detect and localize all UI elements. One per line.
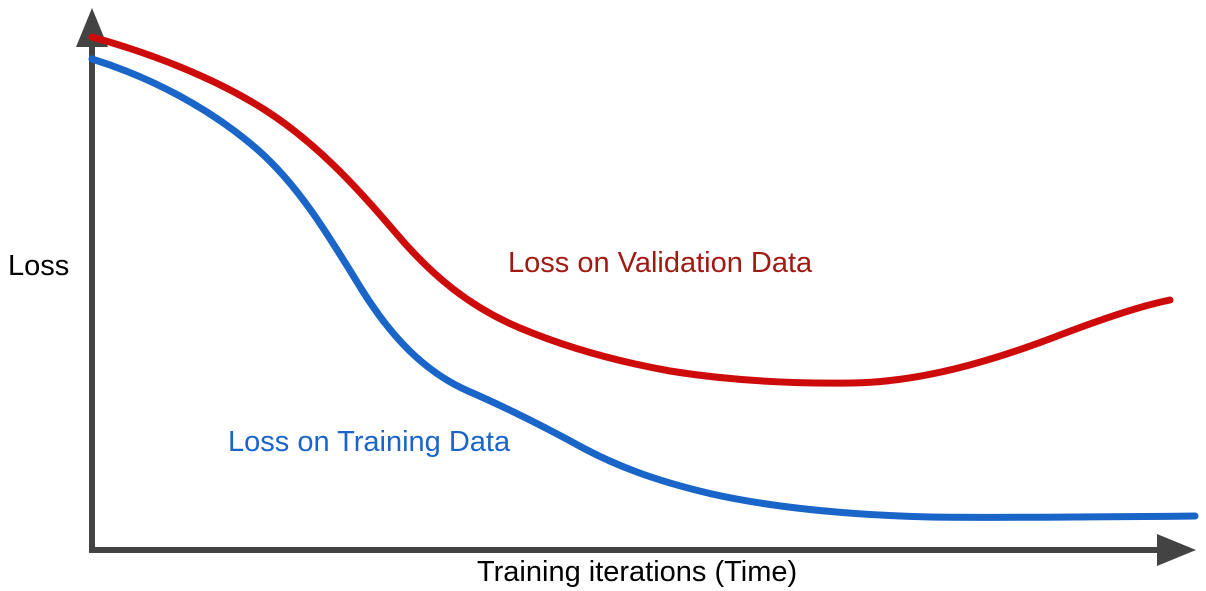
training-series-label: Loss on Training Data (228, 428, 510, 457)
loss-curves-chart: Loss Training iterations (Time) Loss on … (0, 0, 1206, 591)
validation-series-label: Loss on Validation Data (508, 249, 812, 278)
chart-plot-area (0, 0, 1206, 591)
validation-loss-curve (92, 37, 1170, 383)
x-axis-label: Training iterations (Time) (477, 558, 797, 587)
x-axis-arrow-icon (1157, 534, 1196, 566)
y-axis-label: Loss (8, 252, 69, 281)
